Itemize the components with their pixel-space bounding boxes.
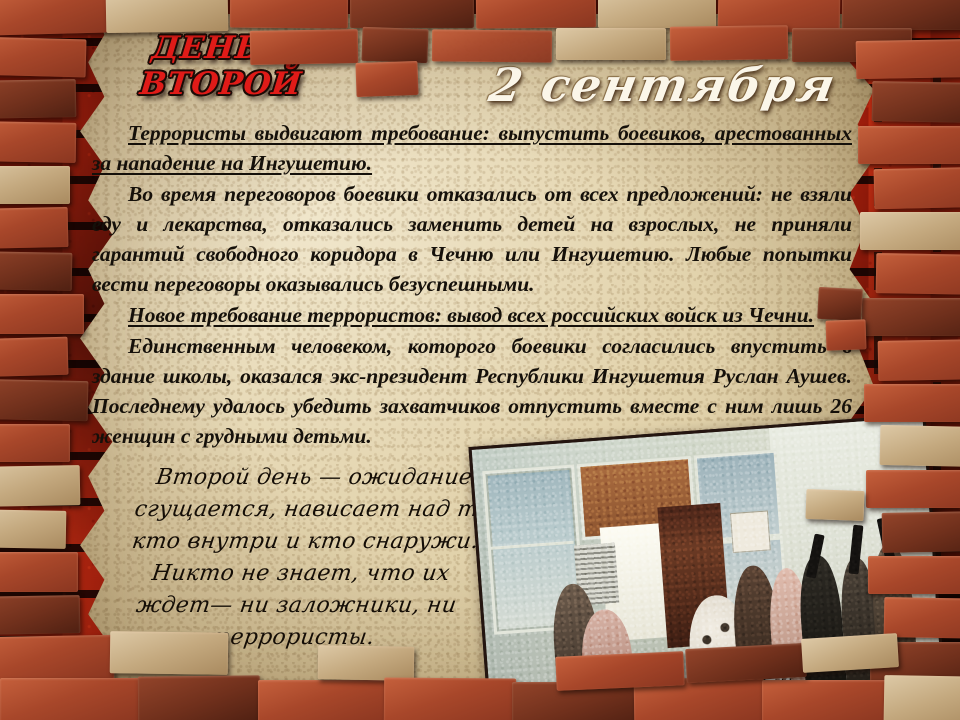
brick-top-row2-2 xyxy=(361,27,428,63)
brick-bottom-2 xyxy=(110,631,229,675)
brick-top-1 xyxy=(0,0,109,36)
brick-top-6 xyxy=(598,0,716,28)
brick-right-1 xyxy=(856,39,960,79)
brick-top-5 xyxy=(476,0,596,29)
brick-left-12 xyxy=(0,509,66,549)
brick-top-row2-1 xyxy=(250,29,359,65)
brick-over-photo-3 xyxy=(801,633,899,673)
brick-left-4 xyxy=(0,166,70,204)
brick-right-4 xyxy=(874,167,960,209)
brick-left-10 xyxy=(0,424,70,462)
brick-right-5 xyxy=(860,212,960,250)
brick-left-1 xyxy=(0,37,86,78)
brick-left-14 xyxy=(0,595,80,635)
brick-top-row2-4 xyxy=(556,28,666,60)
brick-bottom-1 xyxy=(0,635,114,681)
brick-right-11 xyxy=(866,470,960,508)
brick-over-photo-1 xyxy=(555,651,684,691)
brick-bottom-11 xyxy=(884,675,960,720)
brick-right-9 xyxy=(864,384,960,422)
brick-bottom-4 xyxy=(138,675,260,720)
brick-bottom-3 xyxy=(0,678,140,720)
brick-left-3 xyxy=(0,121,76,163)
brick-left-9 xyxy=(0,379,88,421)
brick-left-6 xyxy=(0,251,72,291)
slide-content: ДЕНЬ ВТОРОЙ 2 сентября Террористы выдвиг… xyxy=(0,0,960,720)
brick-bottom-5 xyxy=(258,680,386,720)
verse-line-5: ждет— ни заложники, ни xyxy=(119,590,473,622)
brick-intrude-right-3 xyxy=(805,489,864,521)
brick-right-10 xyxy=(880,425,960,467)
body-text-block: Террористы выдвигают требование: выпусти… xyxy=(92,118,852,452)
verse-line-4: Никто не знает, что их xyxy=(124,558,478,590)
verse-block: Второй день — ожидание сгущается, нависа… xyxy=(115,462,492,654)
brick-bottom-6 xyxy=(318,645,415,681)
brick-top-row2-5 xyxy=(670,25,788,61)
brick-bottom-7 xyxy=(384,677,516,720)
brick-right-8 xyxy=(878,339,960,381)
slide-root: ДЕНЬ ВТОРОЙ 2 сентября Террористы выдвиг… xyxy=(0,0,960,720)
brick-left-8 xyxy=(0,337,68,378)
brick-right-7 xyxy=(862,298,960,336)
brick-top-4 xyxy=(350,0,474,28)
verse-line-2: сгущается, нависает над теми, xyxy=(132,494,486,526)
brick-over-photo-2 xyxy=(685,643,807,683)
brick-bottom-10 xyxy=(762,680,888,720)
brick-right-13 xyxy=(868,556,960,594)
brick-top-row2-3 xyxy=(432,29,552,62)
brick-right-6 xyxy=(876,253,960,295)
date-heading: 2 сентября xyxy=(485,58,841,112)
brick-left-11 xyxy=(0,465,80,507)
brick-left-13 xyxy=(0,552,78,592)
brick-left-7 xyxy=(0,294,84,334)
brick-right-3 xyxy=(858,126,960,164)
paragraph-negotiations-failed: Во время переговоров боевики отказались … xyxy=(92,179,852,299)
verse-line-1: Второй день — ожидание xyxy=(137,462,491,494)
brick-nub-below xyxy=(355,61,418,97)
brick-top-2 xyxy=(106,0,229,33)
paragraph-new-demand: Новое требование террористов: вывод всех… xyxy=(92,300,852,330)
brick-intrude-right-2 xyxy=(825,319,866,350)
verse-line-3: кто внутри и кто снаружи. xyxy=(128,526,482,558)
paragraph-demand-release: Террористы выдвигают требование: выпусти… xyxy=(92,118,852,178)
brick-right-12 xyxy=(882,511,960,553)
brick-left-2 xyxy=(0,79,76,119)
brick-left-5 xyxy=(0,207,68,249)
brick-intrude-right-1 xyxy=(817,287,863,321)
brick-top-3 xyxy=(230,0,348,29)
brick-right-2 xyxy=(872,81,960,123)
brick-top-8 xyxy=(842,0,960,30)
